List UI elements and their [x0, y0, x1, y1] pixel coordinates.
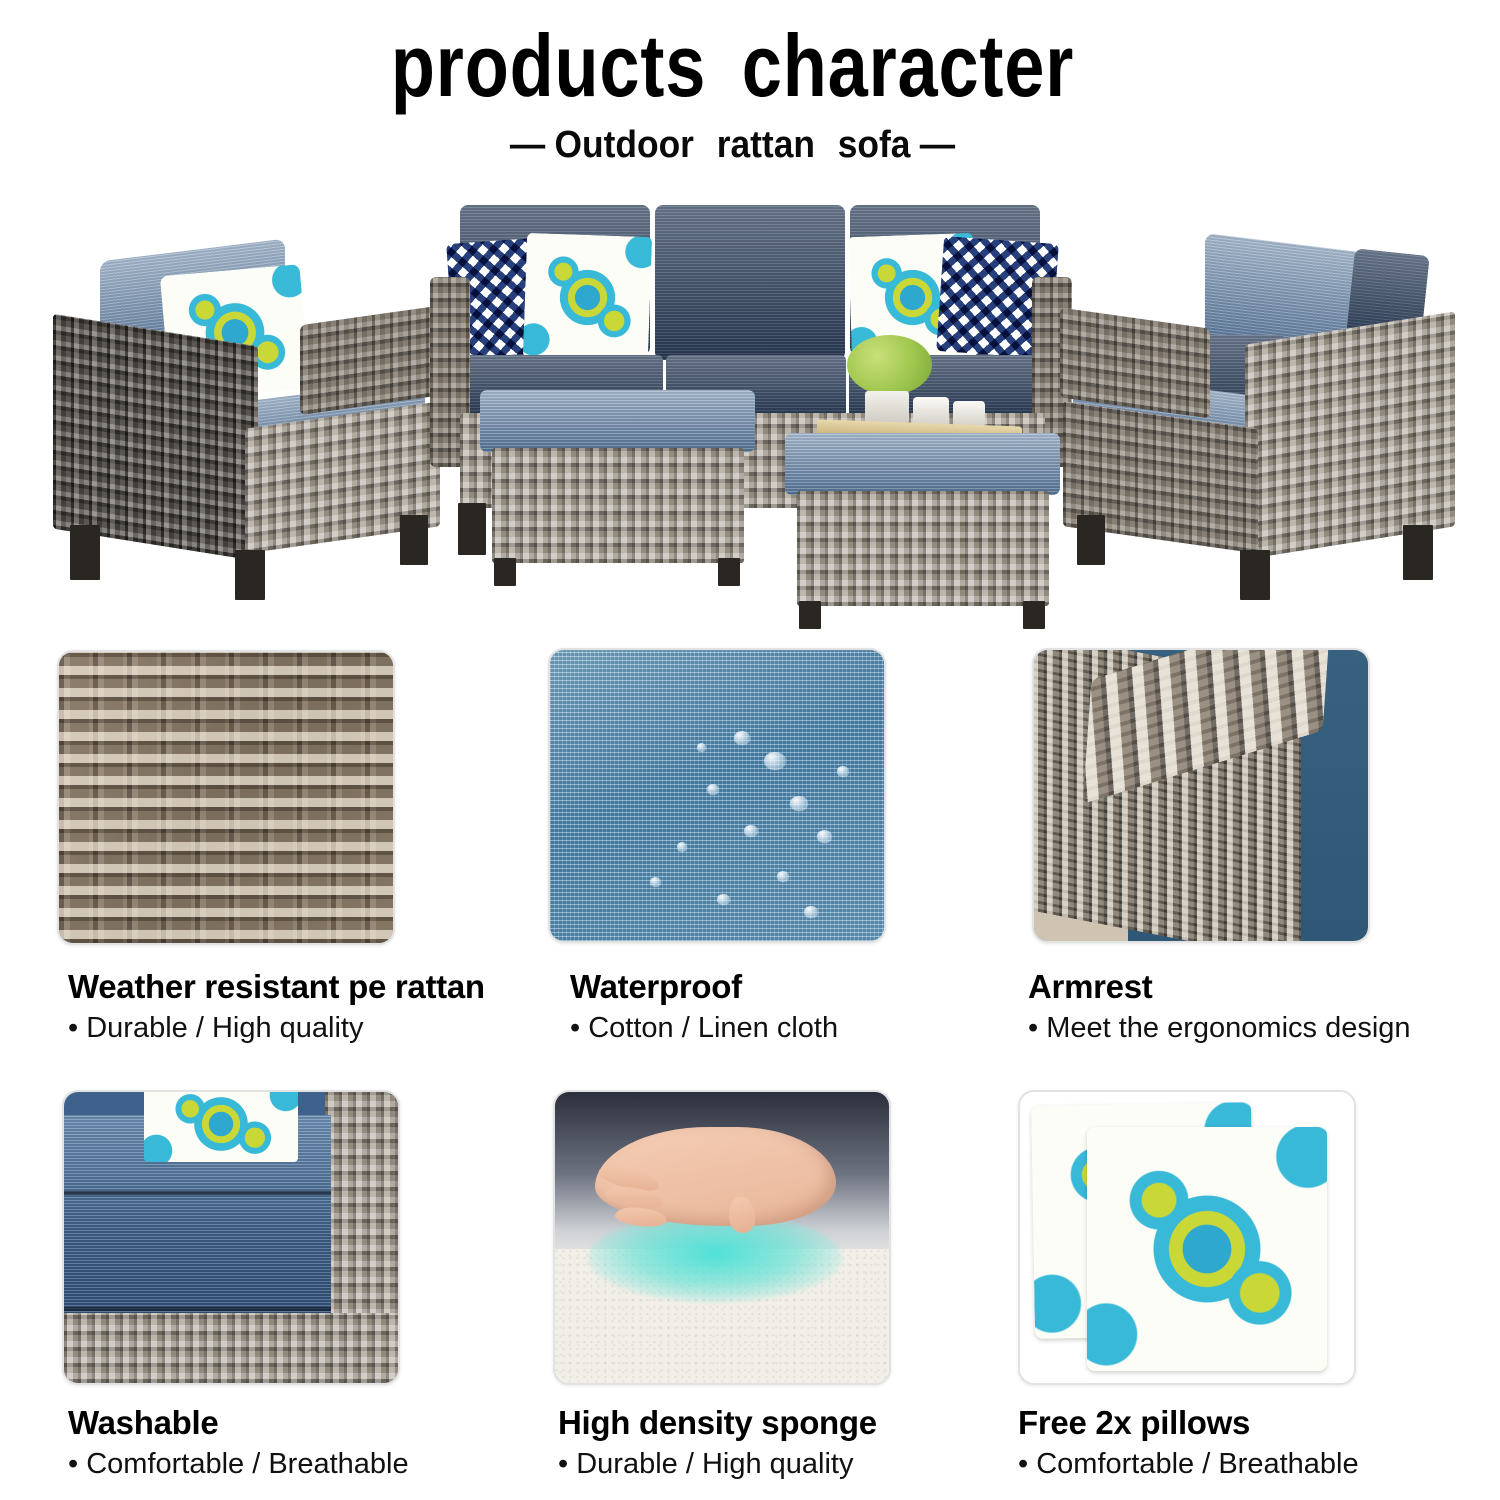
washable-seam-top	[64, 1191, 331, 1195]
feature-bullet-free-pillows: • Comfortable / Breathable	[1018, 1448, 1359, 1481]
ottoman-right-base	[797, 491, 1049, 606]
left-chair-leg-mid	[235, 550, 265, 600]
armrest-closeup-image	[1034, 650, 1368, 941]
right-chair-leg-back	[1077, 515, 1105, 565]
water-droplet	[717, 894, 730, 904]
header: products character —Outdoor rattan sofa—	[0, 0, 1500, 167]
page-title: products character	[103, 22, 1362, 110]
plant-pot	[865, 391, 909, 425]
sofa-pillow-suzani-left	[523, 233, 652, 362]
ottoman-left-cushion	[480, 390, 755, 452]
feature-bullet-high-density-sponge: • Durable / High quality	[558, 1448, 853, 1481]
feature-title-waterproof: Waterproof	[570, 968, 742, 1006]
right-chair-side-panel	[1245, 311, 1455, 559]
washable-seam-bottom	[64, 1307, 331, 1311]
dash-left-icon: —	[501, 124, 555, 167]
washable-accent-pillow	[144, 1090, 298, 1162]
feature-tile-armrest	[1032, 648, 1370, 943]
pillow-front	[1087, 1127, 1327, 1371]
washable-cushion-image	[64, 1092, 398, 1383]
ottoman-left-leg-left	[494, 558, 516, 586]
water-droplet	[744, 825, 758, 836]
water-droplet	[790, 796, 808, 810]
memory-foam-image	[555, 1092, 889, 1383]
dash-right-icon: —	[910, 124, 964, 167]
left-armchair	[45, 240, 445, 595]
feature-tile-high-density-sponge	[553, 1090, 891, 1385]
free-pillows-image	[1020, 1092, 1354, 1383]
feature-bullet-armrest: • Meet the ergonomics design	[1028, 1012, 1411, 1045]
water-droplet	[777, 871, 789, 881]
ottoman-right-leg-right	[1023, 601, 1045, 629]
feature-title-armrest: Armrest	[1028, 968, 1152, 1006]
water-droplet	[697, 743, 706, 751]
water-droplet	[734, 731, 750, 744]
feature-bullet-weather-resistant: • Durable / High quality	[68, 1012, 363, 1045]
feature-tile-weather-resistant	[57, 650, 395, 945]
water-droplet	[837, 766, 849, 776]
feature-title-washable: Washable	[68, 1404, 218, 1442]
subtitle-text: Outdoor rattan sofa	[555, 124, 911, 166]
green-plant	[847, 335, 932, 395]
feature-title-high-density-sponge: High density sponge	[558, 1404, 877, 1442]
feature-tile-waterproof	[548, 648, 886, 943]
white-cup-right	[953, 401, 985, 427]
feature-title-free-pillows: Free 2x pillows	[1018, 1404, 1250, 1442]
ottoman-right-cushion	[785, 433, 1060, 495]
left-chair-leg-back	[400, 515, 428, 565]
gel-impression	[588, 1214, 842, 1301]
feature-tile-washable	[62, 1090, 400, 1385]
water-droplet	[817, 830, 832, 842]
washable-rattan-bottom	[64, 1313, 398, 1383]
water-droplet	[677, 842, 687, 851]
feature-title-weather-resistant: Weather resistant pe rattan	[68, 968, 485, 1006]
water-droplet	[764, 752, 786, 769]
right-chair-leg-mid	[1240, 550, 1270, 600]
ottoman-left	[480, 390, 755, 590]
right-chair-leg-front	[1403, 525, 1433, 580]
feature-bullet-waterproof: • Cotton / Linen cloth	[570, 1012, 838, 1045]
hero-product-image	[0, 195, 1500, 615]
feature-tile-free-pillows	[1018, 1090, 1356, 1385]
water-droplet	[650, 877, 661, 886]
product-infographic: products character —Outdoor rattan sofa—	[0, 0, 1500, 1500]
ottoman-left-base	[492, 448, 744, 563]
ottoman-right-leg-left	[799, 601, 821, 629]
water-droplet	[707, 784, 719, 794]
rattan-weave-texture-image	[59, 652, 393, 943]
ottoman-left-leg-right	[718, 558, 740, 586]
sofa-back-cushion-center	[655, 205, 845, 360]
ottoman-right	[785, 385, 1060, 590]
right-armchair	[1055, 240, 1460, 595]
waterproof-fabric-image	[550, 650, 884, 941]
feature-bullet-washable: • Comfortable / Breathable	[68, 1448, 409, 1481]
left-chair-leg-front	[70, 525, 100, 580]
water-droplet	[804, 906, 818, 917]
page-subtitle: —Outdoor rattan sofa—	[19, 124, 1447, 167]
